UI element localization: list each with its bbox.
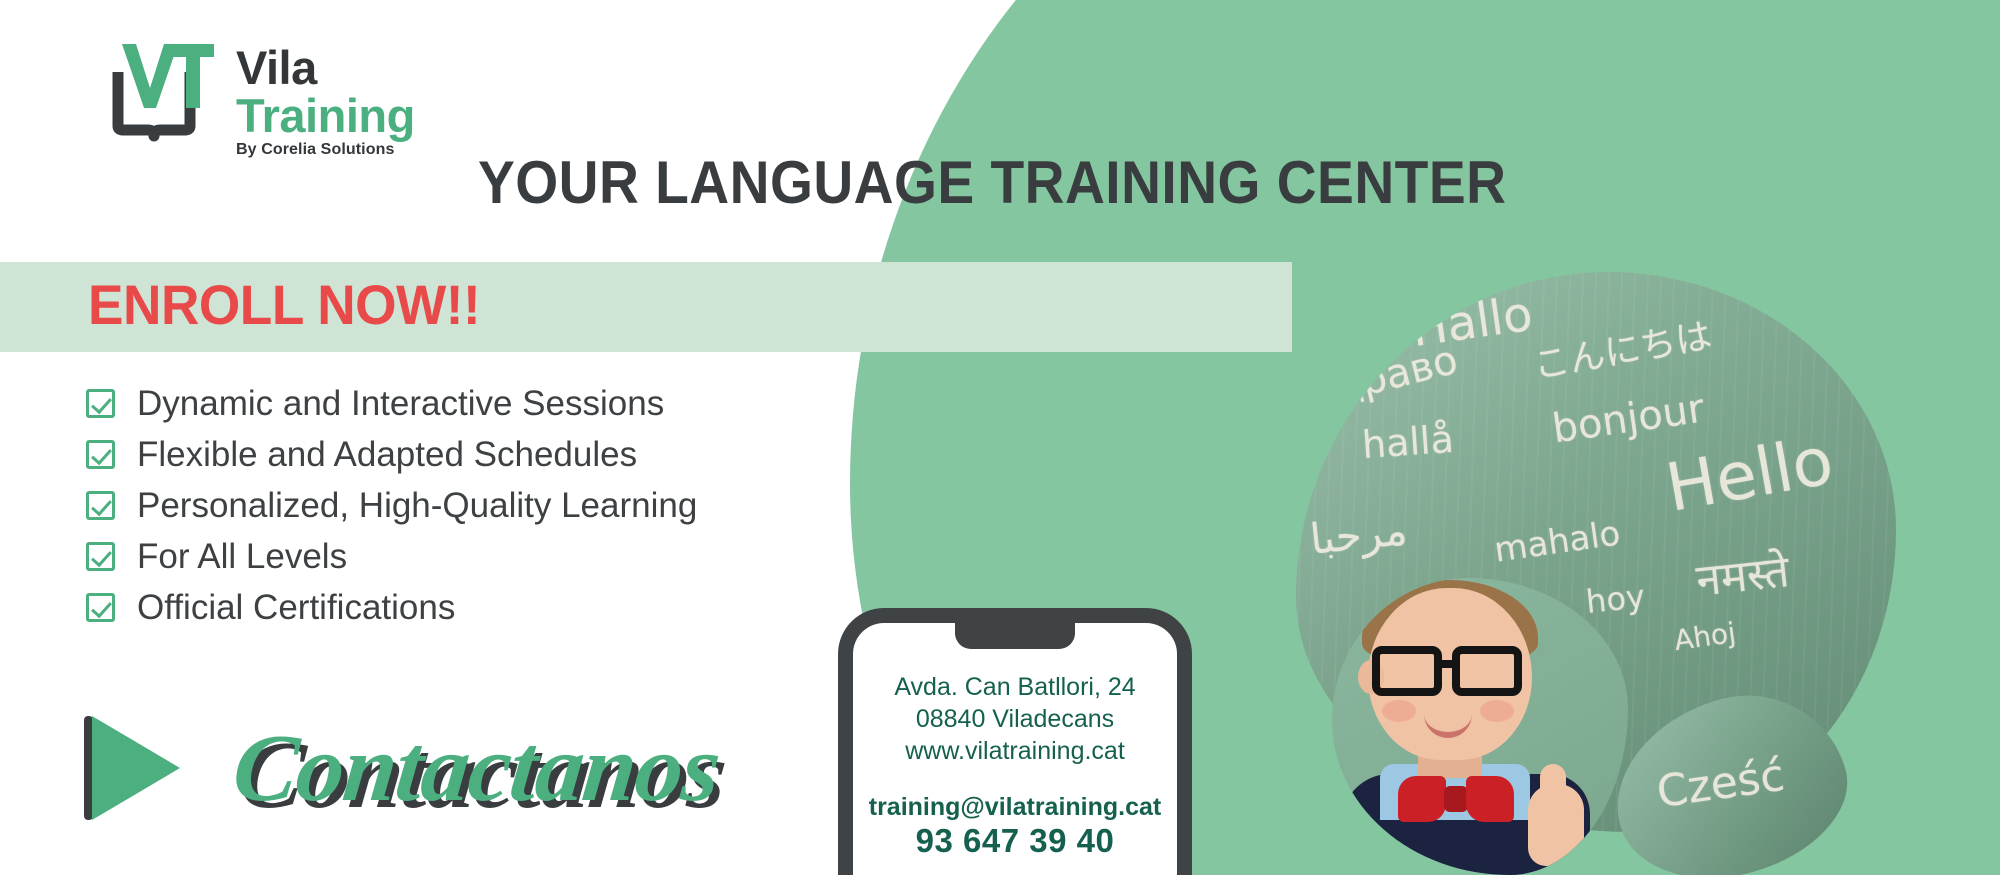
checkbox-checked-icon [86, 389, 115, 418]
chalk-greeting: مرحبا [1308, 505, 1410, 564]
lens-right [1452, 646, 1522, 696]
bowtie-left [1398, 776, 1446, 822]
bowtie-knot [1444, 786, 1468, 812]
enroll-callout: ENROLL NOW!! [88, 272, 480, 337]
logo-book-icon [88, 38, 220, 142]
address-line-1: Avda. Can Batllori, 24 [853, 671, 1177, 703]
feature-label: Personalized, High-Quality Learning [137, 486, 697, 526]
hand [1528, 784, 1584, 866]
phone-number[interactable]: 93 647 39 40 [853, 822, 1177, 860]
feature-label: Dynamic and Interactive Sessions [137, 384, 664, 424]
contact-cta[interactable]: Contactanos [84, 712, 719, 823]
chalk-greeting: здраво [1309, 337, 1463, 417]
chalk-greeting: mahalo [1492, 513, 1623, 570]
play-arrow [92, 716, 180, 820]
chalk-greeting: bonjour [1550, 386, 1708, 453]
website-link[interactable]: www.vilatraining.cat [853, 735, 1177, 767]
list-item: Flexible and Adapted Schedules [86, 429, 697, 480]
checkbox-checked-icon [86, 440, 115, 469]
page-title: YOUR LANGUAGE TRAINING CENTER [478, 148, 1506, 217]
phone-notch [955, 623, 1075, 649]
lens-left [1372, 646, 1442, 696]
checkbox-checked-icon [86, 593, 115, 622]
checkbox-checked-icon [86, 491, 115, 520]
phone-mockup: Avda. Can Batllori, 24 08840 Viladecans … [838, 608, 1192, 875]
chalk-greeting: Cześć [1654, 750, 1788, 818]
promotional-banner: Halloздравоhallåمرحباこんにちはbonjourmahaloh… [0, 0, 2000, 875]
phone-screen: Avda. Can Batllori, 24 08840 Viladecans … [853, 623, 1177, 860]
bowtie-right [1466, 776, 1514, 822]
logo-name-line2: Training [236, 91, 415, 140]
address-line-2: 08840 Viladecans [853, 703, 1177, 735]
student-photo [1332, 578, 1628, 875]
feature-label: Official Certifications [137, 588, 455, 628]
list-item: Personalized, High-Quality Learning [86, 480, 697, 531]
chalk-greeting: Ahoj [1672, 616, 1738, 657]
chalk-greeting: hallå [1361, 417, 1456, 467]
cheek-right [1480, 700, 1514, 722]
features-list: Dynamic and Interactive Sessions Flexibl… [86, 378, 697, 633]
feature-label: Flexible and Adapted Schedules [137, 435, 637, 475]
chalk-greeting: Hello [1661, 422, 1839, 527]
chalk-greeting: नमस्ते [1693, 539, 1792, 608]
list-item: Official Certifications [86, 582, 697, 633]
logo[interactable]: Vila Training By Corelia Solutions [88, 38, 415, 159]
cta-label: Contactanos [228, 712, 725, 823]
email-link[interactable]: training@vilatraining.cat [853, 793, 1177, 822]
play-triangle-icon [84, 716, 184, 820]
chalk-greeting: こんにちは [1529, 307, 1715, 389]
feature-label: For All Levels [137, 537, 347, 577]
logo-wordmark: Vila Training By Corelia Solutions [236, 38, 415, 159]
glasses-icon [1372, 646, 1538, 696]
logo-tagline: By Corelia Solutions [236, 141, 415, 159]
logo-name-line1: Vila [236, 44, 415, 91]
bowtie-icon [1398, 776, 1514, 822]
checkbox-checked-icon [86, 542, 115, 571]
cheek-left [1382, 700, 1416, 722]
chalk-greeting: hoy [1584, 577, 1646, 621]
list-item: Dynamic and Interactive Sessions [86, 378, 697, 429]
list-item: For All Levels [86, 531, 697, 582]
